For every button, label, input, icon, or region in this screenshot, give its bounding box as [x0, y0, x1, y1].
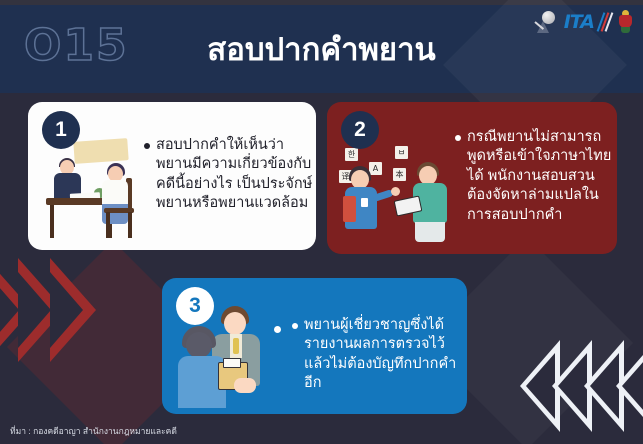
card-2-bullet [455, 135, 461, 141]
content-card-3: 3 พยานผู้เชี่ยวชาญซึ่งได้รายงานผลการตรวจ… [162, 278, 467, 414]
interpreter-with-languages-illustration: 한 译 A ㅂ 本 [339, 140, 463, 248]
card-3-bullet [292, 323, 298, 329]
interview-at-desk-illustration [42, 138, 152, 244]
branding-logos: ITA [534, 5, 633, 39]
right-chevron-4 [616, 340, 643, 432]
left-chevron-3 [50, 258, 96, 362]
magnifier-icon [534, 9, 560, 35]
card-3-number-badge: 3 [176, 287, 214, 325]
card-3-text: พยานผู้เชี่ยวชาญซึ่งได้รายงานผลการตรวจไว… [304, 316, 464, 394]
card-1-number-badge: 1 [42, 111, 80, 149]
card-1-bullet [144, 143, 150, 149]
card-2-text: กรณีพยานไม่สามารถพูดหรือเข้าใจภาษาไทยได้… [467, 128, 617, 225]
card-1-text: สอบปากคำให้เห็นว่าพยานมีความเกี่ยวข้องกั… [156, 136, 316, 214]
card-2-number-badge: 2 [341, 111, 379, 149]
thai-garuda-emblem-icon [618, 10, 633, 34]
language-char-3: A [369, 162, 382, 175]
source-footer: ที่มา : กองคดีอาญา สำนักงานกฎหมายและคดี [10, 424, 177, 438]
language-char-4: ㅂ [395, 146, 408, 159]
slide-root: O15 สอบปากคำพยาน ITA 1 สอบปากคำให้เห็นว่… [0, 0, 643, 444]
ita-stripes-icon [598, 12, 614, 32]
content-card-2: 2 한 译 A ㅂ 本 กรณีพยานไม่สามารถพูดหรือเข้า… [327, 102, 617, 254]
content-card-1: 1 สอบปากคำให้เห็นว่าพยานมีความเกี่ยวข้อง… [28, 102, 316, 250]
language-char-1: 한 [345, 148, 358, 161]
language-char-5: 本 [393, 168, 406, 181]
ita-logo-text: ITA [564, 13, 594, 32]
